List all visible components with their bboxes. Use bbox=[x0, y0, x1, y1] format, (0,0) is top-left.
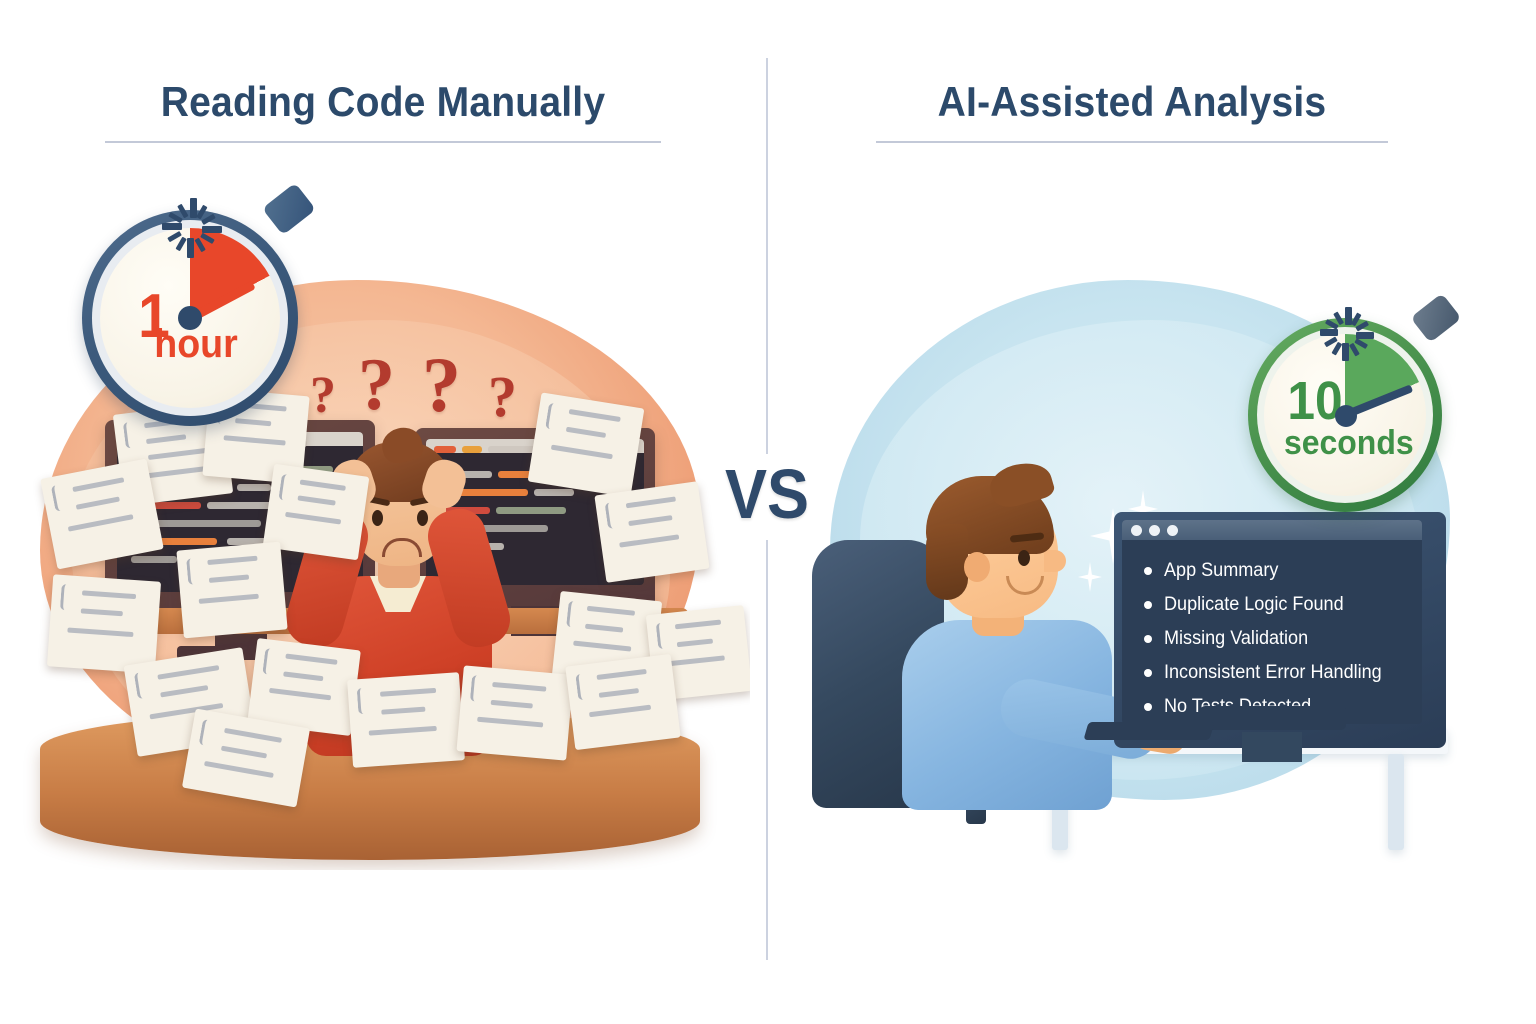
stopwatch-ai: 10 seconds bbox=[1240, 302, 1456, 508]
window-dot-3[interactable] bbox=[1167, 525, 1178, 536]
bullet-label: Duplicate Logic Found bbox=[1164, 594, 1344, 616]
bullet-icon bbox=[1144, 703, 1152, 711]
analysis-screen: App Summary Duplicate Logic Found Missin… bbox=[1122, 520, 1422, 724]
stopwatch-pivot bbox=[1335, 405, 1357, 427]
monitor-base bbox=[1200, 706, 1346, 730]
monitor-neck bbox=[1242, 732, 1302, 762]
question-mark-4: ? bbox=[488, 368, 517, 426]
window-dot-2[interactable] bbox=[1149, 525, 1160, 536]
question-mark-1: ? bbox=[310, 370, 336, 422]
code-paper bbox=[347, 672, 465, 768]
analysis-bullet-list: App Summary Duplicate Logic Found Missin… bbox=[1144, 554, 1412, 724]
bullet-icon bbox=[1144, 567, 1152, 575]
center-divider-bottom bbox=[766, 540, 768, 960]
bullet-icon bbox=[1144, 601, 1152, 609]
code-paper bbox=[528, 392, 645, 497]
page-title-right: AI-Assisted Analysis bbox=[894, 78, 1370, 126]
list-item: Duplicate Logic Found bbox=[1144, 588, 1412, 622]
code-paper bbox=[456, 665, 573, 760]
bullet-label: Missing Validation bbox=[1164, 628, 1308, 650]
question-mark-2: ? bbox=[358, 348, 395, 422]
stopwatch-unit: seconds bbox=[1284, 426, 1408, 460]
screen-titlebar bbox=[1122, 520, 1422, 540]
stopwatch-pivot bbox=[178, 306, 202, 330]
list-item: Missing Validation bbox=[1144, 622, 1412, 656]
window-dot-1[interactable] bbox=[1131, 525, 1142, 536]
title-rule-right bbox=[876, 141, 1388, 143]
infographic-canvas: Reading Code Manually AI-Assisted Analys… bbox=[0, 0, 1536, 1024]
code-paper bbox=[594, 481, 709, 583]
code-paper bbox=[565, 654, 680, 750]
title-rule-left bbox=[105, 141, 661, 143]
bullet-icon bbox=[1144, 669, 1152, 677]
bullet-label: App Summary bbox=[1164, 560, 1278, 582]
bullet-label: Inconsistent Error Handling bbox=[1164, 662, 1382, 684]
code-paper bbox=[47, 574, 161, 673]
code-paper bbox=[176, 542, 287, 639]
list-item: Inconsistent Error Handling bbox=[1144, 656, 1412, 690]
white-desk-leg-right bbox=[1388, 754, 1404, 850]
stopwatch-unit: hour bbox=[151, 324, 241, 364]
stopwatch-manual: 1 hour bbox=[72, 192, 312, 422]
list-item: App Summary bbox=[1144, 554, 1412, 588]
question-mark-3: ? bbox=[422, 346, 461, 424]
page-title-left: Reading Code Manually bbox=[124, 78, 641, 126]
happy-developer bbox=[880, 440, 1140, 800]
keyboard[interactable] bbox=[1083, 722, 1214, 740]
center-divider-top bbox=[766, 58, 768, 454]
bullet-icon bbox=[1144, 635, 1152, 643]
